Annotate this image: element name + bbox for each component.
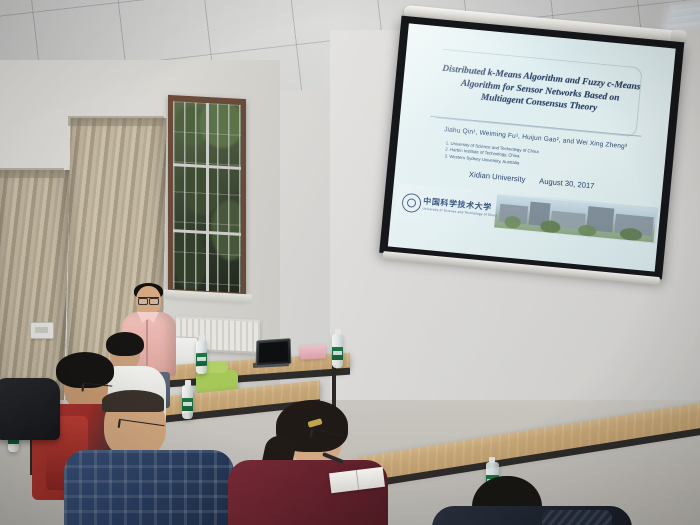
presentation-slide: Distributed k-Means Algorithm and Fuzzy … (388, 23, 676, 271)
front-table-leg-right (332, 365, 336, 409)
photo-scene: Distributed k-Means Algorithm and Fuzzy … (0, 0, 700, 525)
presenter-glasses-icon (138, 297, 159, 303)
attendee-foreground-plaid-shirt (64, 450, 234, 525)
attendee-foreground (78, 392, 238, 525)
campus-photo (494, 194, 656, 242)
pink-box (300, 344, 326, 359)
attendee-white-shirt-hair (106, 332, 144, 356)
curtain-rail-2 (68, 116, 164, 126)
attendee-maroon (246, 408, 396, 525)
ustc-seal-icon (401, 193, 422, 214)
projection-screen: Distributed k-Means Algorithm and Fuzzy … (373, 4, 687, 300)
water-bottle-table-2 (332, 334, 343, 368)
attendee-right-dark (432, 470, 622, 525)
curtain-rail (0, 168, 64, 178)
black-backpack (0, 378, 60, 440)
wall-socket-left (30, 322, 54, 339)
window-glass (173, 101, 241, 293)
slide-venue: Xidian University (469, 170, 526, 184)
laptop-screen (256, 338, 292, 366)
attendee-right-dark-collar (542, 510, 612, 525)
window (168, 95, 246, 299)
slide-date: August 30, 2017 (539, 176, 595, 190)
water-bottle-table-1 (196, 340, 207, 374)
attendee-foreground-hair (102, 390, 164, 412)
projection-screen-frame: Distributed k-Means Algorithm and Fuzzy … (379, 16, 684, 280)
